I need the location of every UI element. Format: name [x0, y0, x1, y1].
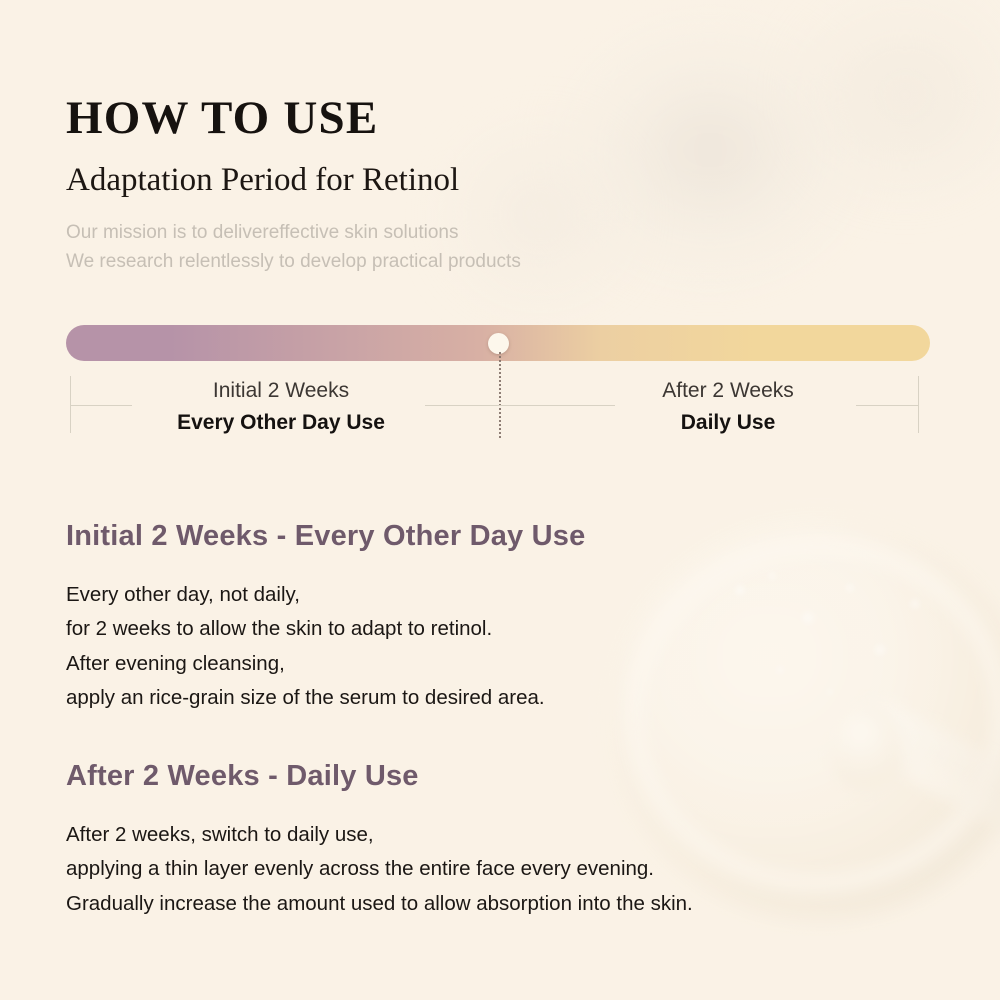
page-subtitle: Adaptation Period for Retinol — [66, 160, 459, 201]
timeline-stage-2-label: After 2 Weeks — [600, 378, 856, 404]
mission-line-1: Our mission is to delivereffective skin … — [66, 218, 521, 247]
section-2-line-1: After 2 weeks, switch to daily use, — [66, 818, 693, 852]
timeline-stage-2-value: Daily Use — [600, 410, 856, 436]
section-1-line-4: apply an rice-grain size of the serum to… — [66, 681, 545, 715]
timeline-rule-center — [425, 405, 615, 406]
timeline-rule-right — [856, 405, 918, 406]
mission-line-2: We research relentlessly to develop prac… — [66, 247, 521, 276]
timeline-stage-1-label: Initial 2 Weeks — [150, 378, 412, 404]
section-2-body: After 2 weeks, switch to daily use, appl… — [66, 818, 693, 921]
timeline-rule-left — [70, 405, 132, 406]
page-title: HOW TO USE — [66, 95, 378, 142]
timeline-divider-dotted-line — [499, 352, 501, 438]
timeline-stage-2: After 2 Weeks Daily Use — [600, 378, 856, 437]
timeline-stage-1: Initial 2 Weeks Every Other Day Use — [150, 378, 412, 437]
mission-statement: Our mission is to delivereffective skin … — [66, 218, 521, 277]
timeline-stage-1-value: Every Other Day Use — [150, 410, 412, 436]
section-1-line-2: for 2 weeks to allow the skin to adapt t… — [66, 612, 545, 646]
section-1-line-1: Every other day, not daily, — [66, 578, 545, 612]
section-1-heading: Initial 2 Weeks - Every Other Day Use — [66, 520, 585, 553]
timeline-knob-handle[interactable] — [488, 333, 509, 354]
timeline-tick-end — [918, 376, 919, 433]
section-2-line-2: applying a thin layer evenly across the … — [66, 852, 693, 886]
how-to-use-infographic: HOW TO USE Adaptation Period for Retinol… — [0, 0, 1000, 1000]
section-1-line-3: After evening cleansing, — [66, 647, 545, 681]
section-2-line-3: Gradually increase the amount used to al… — [66, 887, 693, 921]
section-2-heading: After 2 Weeks - Daily Use — [66, 760, 419, 793]
section-1-body: Every other day, not daily, for 2 weeks … — [66, 578, 545, 716]
